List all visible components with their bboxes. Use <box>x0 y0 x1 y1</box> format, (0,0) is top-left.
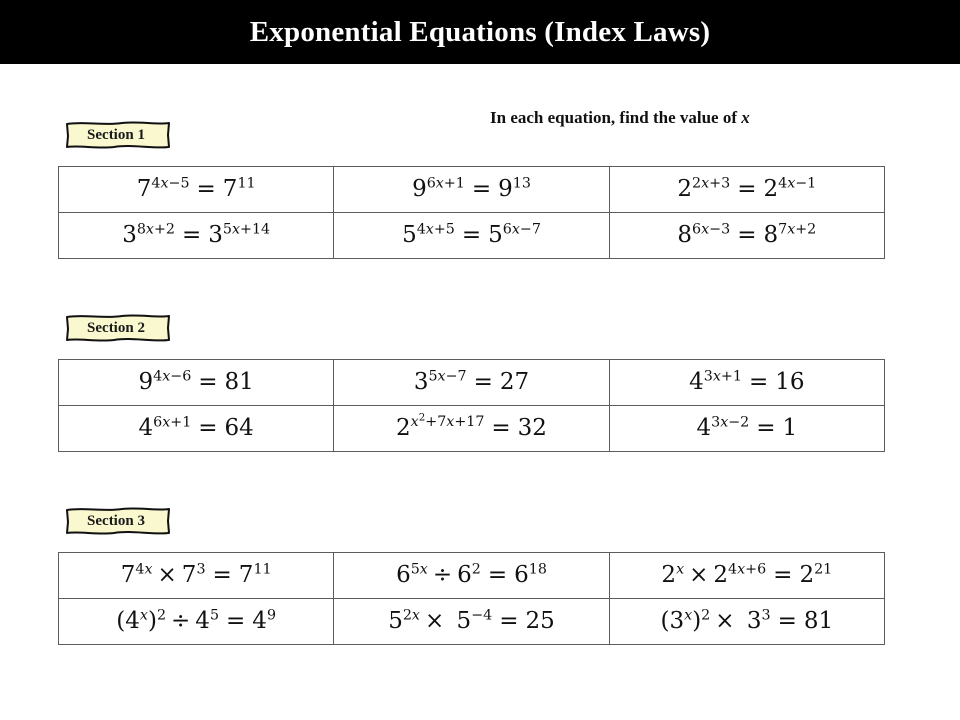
equation-cell[interactable]: 22x+3=24x−1 <box>609 167 884 213</box>
equation-cell[interactable]: 52x× 5−4=25 <box>334 599 609 645</box>
equation-cell[interactable]: (3x)2× 33=81 <box>609 599 884 645</box>
equation-cell[interactable]: (4x)2÷45=49 <box>59 599 334 645</box>
equation-s1r1c3: 22x+3=24x−1 <box>677 176 816 202</box>
equation-s2r1c3: 43x+1=16 <box>689 369 804 395</box>
equation-cell[interactable]: 46x+1=64 <box>59 406 334 452</box>
equation-cell[interactable]: 38x+2=35x+14 <box>59 213 334 259</box>
equation-cell[interactable]: 2x×24x+6=221 <box>609 553 884 599</box>
table-row: 74x×73=711 65x÷62=618 2x×24x+6=221 <box>59 553 885 599</box>
equation-s2r2c1: 46x+1=64 <box>138 415 253 441</box>
equation-cell[interactable]: 2x2+7x+17=32 <box>334 406 609 452</box>
section-3-table: 74x×73=711 65x÷62=618 2x×24x+6=221 (4x)2… <box>58 552 885 645</box>
instruction-text: In each equation, find the value of x <box>490 108 910 128</box>
equation-s3r2c2: 52x× 5−4=25 <box>388 608 555 634</box>
equation-s1r2c1: 38x+2=35x+14 <box>122 222 270 248</box>
equation-s1r1c1: 74x−5=711 <box>137 176 256 202</box>
title-banner: Exponential Equations (Index Laws) <box>0 0 960 64</box>
equation-s3r1c3: 2x×24x+6=221 <box>661 562 832 588</box>
equation-cell[interactable]: 54x+5=56x−7 <box>334 213 609 259</box>
equation-s2r1c2: 35x−7=27 <box>414 369 529 395</box>
equation-s1r2c2: 54x+5=56x−7 <box>402 222 541 248</box>
equation-cell[interactable]: 43x−2=1 <box>609 406 884 452</box>
equation-s2r2c3: 43x−2=1 <box>696 415 797 441</box>
page-title: Exponential Equations (Index Laws) <box>250 16 710 49</box>
section-label-2: Section 2 <box>64 313 172 343</box>
equation-s3r2c3: (3x)2× 33=81 <box>661 608 834 634</box>
table-row: 94x−6=81 35x−7=27 43x+1=16 <box>59 360 885 406</box>
section-1-table: 74x−5=711 96x+1=913 22x+3=24x−1 38x+2=35… <box>58 166 885 259</box>
section-label-1: Section 1 <box>64 120 172 150</box>
table-row: 46x+1=64 2x2+7x+17=32 43x−2=1 <box>59 406 885 452</box>
instruction-variable: x <box>741 108 750 127</box>
equation-cell[interactable]: 43x+1=16 <box>609 360 884 406</box>
section-2-table: 94x−6=81 35x−7=27 43x+1=16 46x+1=64 2x2+… <box>58 359 885 452</box>
equation-cell[interactable]: 74x−5=711 <box>59 167 334 213</box>
equation-cell[interactable]: 94x−6=81 <box>59 360 334 406</box>
table-row: 74x−5=711 96x+1=913 22x+3=24x−1 <box>59 167 885 213</box>
equation-cell[interactable]: 35x−7=27 <box>334 360 609 406</box>
equation-cell[interactable]: 96x+1=913 <box>334 167 609 213</box>
equation-s1r1c2: 96x+1=913 <box>412 176 531 202</box>
equation-s3r1c1: 74x×73=711 <box>121 562 272 588</box>
instruction-sentence: In each equation, find the value of <box>490 108 737 127</box>
equation-s2r2c2: 2x2+7x+17=32 <box>396 415 547 441</box>
section-label-3: Section 3 <box>64 506 172 536</box>
equation-cell[interactable]: 65x÷62=618 <box>334 553 609 599</box>
table-row: (4x)2÷45=49 52x× 5−4=25 (3x)2× 33=81 <box>59 599 885 645</box>
section-label-1-text: Section 1 <box>64 120 172 150</box>
equation-cell[interactable]: 74x×73=711 <box>59 553 334 599</box>
equation-s3r1c2: 65x÷62=618 <box>396 562 547 588</box>
table-row: 38x+2=35x+14 54x+5=56x−7 86x−3=87x+2 <box>59 213 885 259</box>
section-label-3-text: Section 3 <box>64 506 172 536</box>
equation-s3r2c1: (4x)2÷45=49 <box>116 608 276 634</box>
equation-s2r1c1: 94x−6=81 <box>138 369 253 395</box>
section-label-2-text: Section 2 <box>64 313 172 343</box>
equation-cell[interactable]: 86x−3=87x+2 <box>609 213 884 259</box>
equation-s1r2c3: 86x−3=87x+2 <box>677 222 816 248</box>
